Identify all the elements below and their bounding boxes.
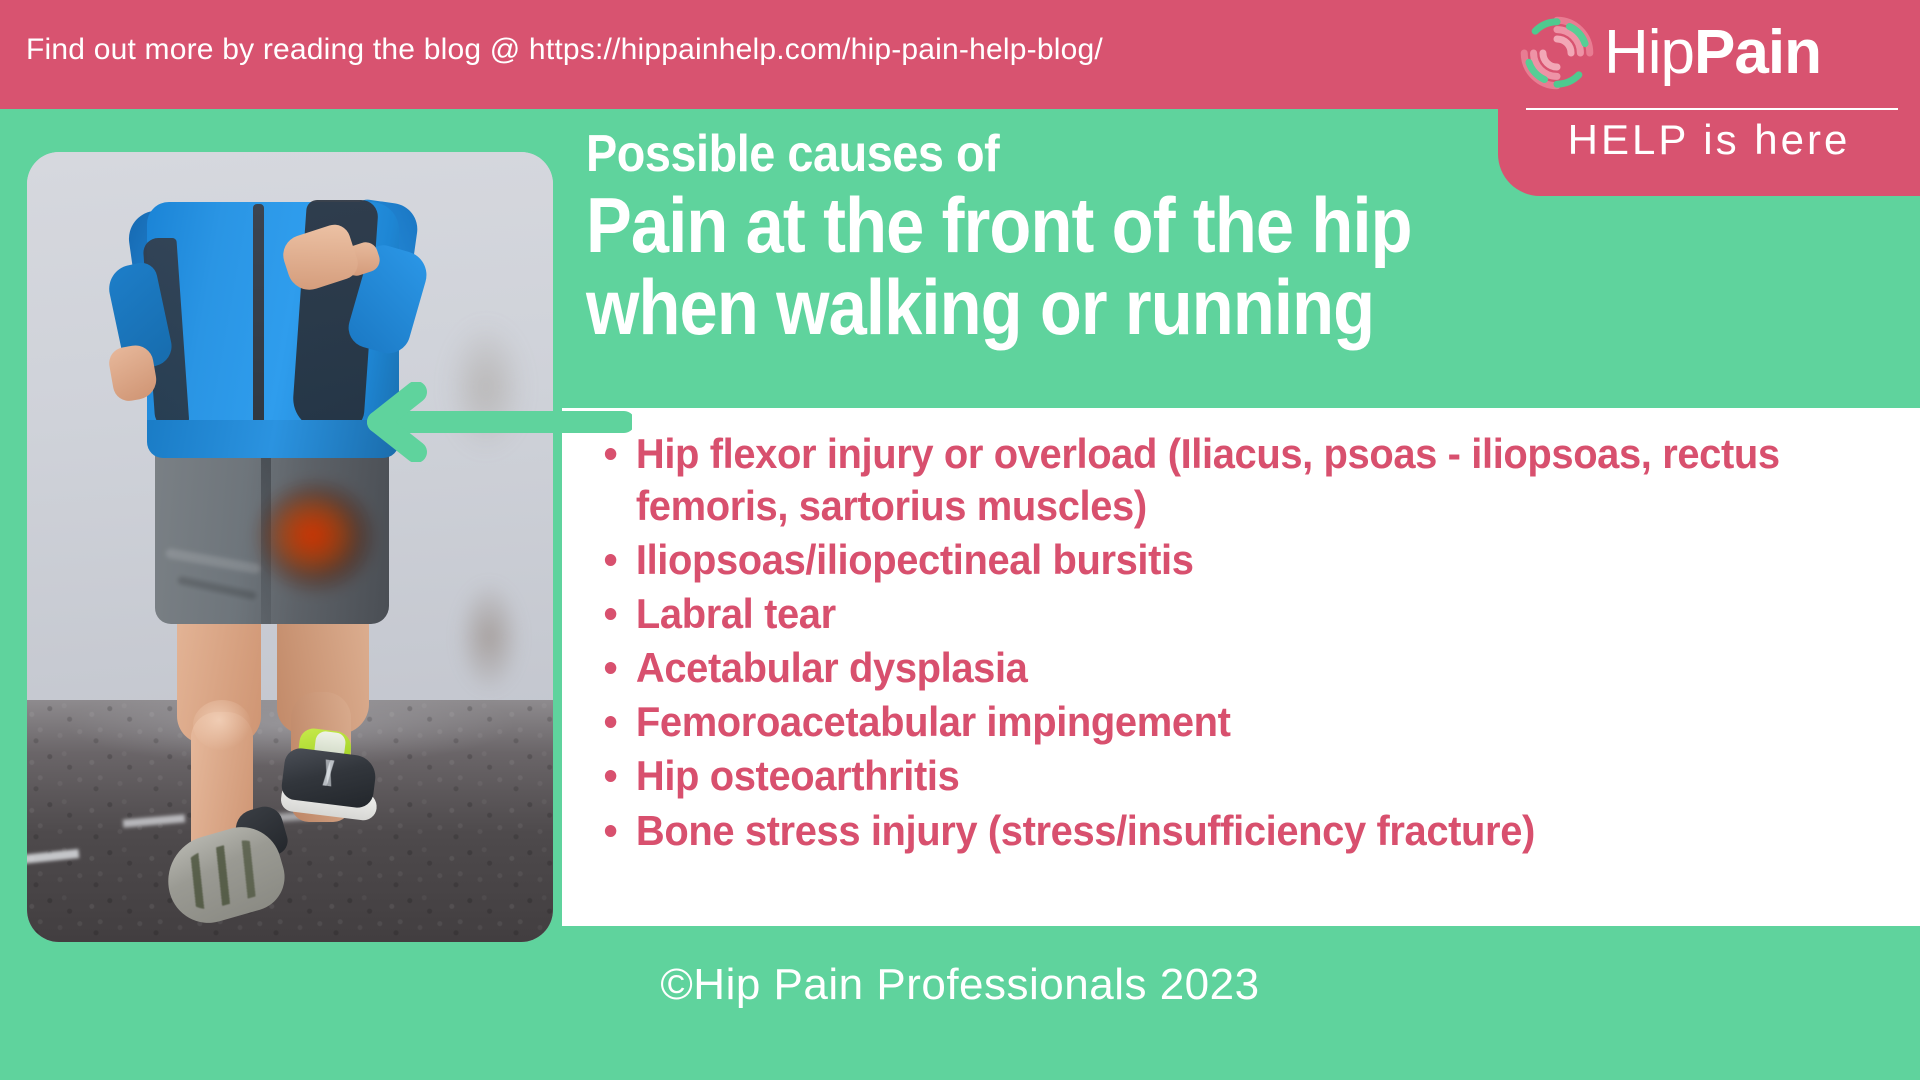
- list-item: •Labral tear: [596, 588, 1841, 640]
- causes-list: •Hip flexor injury or overload (Iliacus,…: [562, 408, 1920, 857]
- list-item-label: Iliopsoas/iliopectineal bursitis: [636, 536, 1194, 583]
- photo-road-texture: [27, 700, 553, 942]
- photo-background-blur-near: [457, 582, 521, 692]
- bullet-dot-icon: •: [604, 805, 618, 857]
- spiral-swirl-logo-icon: [1518, 14, 1596, 92]
- runner-left-knee: [193, 700, 251, 750]
- list-item: •Femoroacetabular impingement: [596, 696, 1841, 748]
- runner-jacket-zipper: [253, 204, 264, 456]
- bullet-dot-icon: •: [604, 534, 618, 586]
- runner-photo: [27, 152, 553, 942]
- list-item-label: Acetabular dysplasia: [636, 644, 1028, 691]
- list-item-label: Femoroacetabular impingement: [636, 698, 1231, 745]
- logo-word-hip: Hip: [1604, 18, 1694, 87]
- list-item: •Iliopsoas/iliopectineal bursitis: [596, 534, 1841, 586]
- pain-location-arrow: [352, 382, 632, 462]
- brand-logo-block: HipPain HELP is here: [1498, 0, 1920, 196]
- blog-url-text: Find out more by reading the blog @ http…: [26, 33, 1103, 67]
- list-item: •Bone stress injury (stress/insufficienc…: [596, 805, 1841, 857]
- list-item-label: Hip flexor injury or overload (Iliacus, …: [636, 430, 1780, 529]
- logo-word-pain: Pain: [1694, 18, 1821, 87]
- bullet-dot-icon: •: [604, 696, 618, 748]
- bullet-dot-icon: •: [604, 750, 618, 802]
- list-item: •Hip osteoarthritis: [596, 750, 1841, 802]
- hip-pain-glow-core: [223, 452, 401, 632]
- list-item: •Hip flexor injury or overload (Iliacus,…: [596, 428, 1841, 532]
- headline-line-2: when walking or running: [586, 269, 1739, 345]
- bullet-dot-icon: •: [604, 642, 618, 694]
- footer-bar: ©Hip Pain Professionals 2023: [0, 926, 1920, 1080]
- list-item-label: Bone stress injury (stress/insufficiency…: [636, 807, 1535, 854]
- logo-wordmark: HipPain: [1604, 22, 1821, 84]
- causes-list-panel: •Hip flexor injury or overload (Iliacus,…: [562, 408, 1920, 926]
- list-item: •Acetabular dysplasia: [596, 642, 1841, 694]
- logo-row: HipPain: [1518, 14, 1821, 92]
- logo-divider: [1526, 108, 1898, 110]
- bullet-dot-icon: •: [604, 588, 618, 640]
- copyright-text: ©Hip Pain Professionals 2023: [660, 960, 1259, 1010]
- list-item-label: Labral tear: [636, 590, 836, 637]
- infographic-canvas: Find out more by reading the blog @ http…: [0, 0, 1920, 1080]
- logo-tagline: HELP is here: [1498, 116, 1920, 164]
- headline-line-1: Pain at the front of the hip: [586, 187, 1739, 263]
- list-item-label: Hip osteoarthritis: [636, 752, 959, 799]
